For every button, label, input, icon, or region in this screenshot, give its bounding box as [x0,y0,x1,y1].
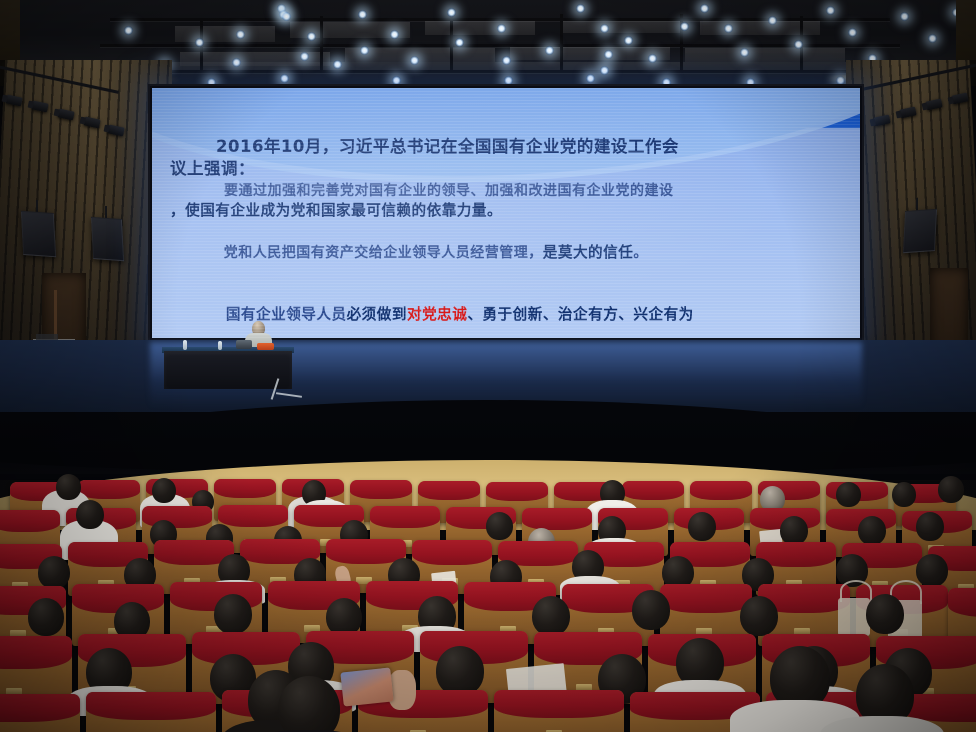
seat[interactable] [0,694,80,732]
presentation-screen[interactable]: 2016年10月，习近平总书记在全国国有企业党的建设工作会 议上强调： 要通过加… [152,88,860,338]
slide-line-5: 党和人民把国有资产交给企业领导人员经营管理，是莫大的信任。 [170,225,842,282]
slide-line-6-c: 、勇于创新、治企有方、兴企有为 [467,306,693,323]
ceiling-spotlight [794,40,803,49]
ceiling-spotlight [447,8,456,17]
wall-speaker [21,211,56,258]
slide-line-6: 国有企业领导人员必须做到对党忠诚、勇于创新、治企有方、兴企有为 [170,286,842,338]
attendee-head [38,556,70,589]
ceiling-spotlight [680,22,689,31]
ceiling-spotlight [236,30,245,39]
attendee-head [858,516,886,545]
ceiling-spotlight [740,48,749,57]
attendee-head [214,594,252,634]
ceiling-spotlight [232,58,241,67]
attendee-head [152,478,176,503]
slide-line-4: ，使国有企业成为党和国家最可信赖的依靠力量。 [170,201,842,221]
attendee-head [632,590,670,630]
ceiling-spotlight [604,50,613,59]
attendee-head [938,476,964,503]
ceiling-spotlight [826,6,835,15]
attendee-head [916,554,948,587]
attendee-head [780,516,808,545]
water-bottle [218,341,222,350]
slide-highlight-1: 对党忠诚 [407,306,467,323]
led-screen-frame: 2016年10月，习近平总书记在全国国有企业党的建设工作会 议上强调： 要通过加… [148,84,864,342]
slide-line-1: 2016年10月，习近平总书记在全国国有企业党的建设工作会 [170,136,842,158]
ceiling-spotlight [455,38,464,47]
ceiling-spotlight [502,56,511,65]
slide-line-5-b: 是莫大的信任 [543,244,634,261]
ceiling-spotlight [360,46,369,55]
auditorium-scene: 2016年10月，习近平总书记在全国国有企业党的建设工作会 议上强调： 要通过加… [0,0,976,732]
laptop [236,340,252,349]
ceiling-spotlight [497,24,506,33]
attendee-head [532,596,570,636]
ceiling-spotlight [576,4,585,13]
ceiling-spotlight [410,56,419,65]
ceiling-spotlight [724,24,733,33]
ceiling-spotlight [390,30,399,39]
attendee-head [436,646,484,696]
ceiling-spotlight [600,66,609,75]
audience-area [0,468,976,732]
attendee-head [486,512,513,540]
attendee-head [688,512,716,541]
slide-line-3: 要通过加强和完善党对国有企业的领导、加强和改进国有企业党的建设 [170,182,842,201]
attendee-head [28,598,64,636]
water-bottle [183,340,187,350]
ceiling-spotlight [545,46,554,55]
slide-line-5-c: 。 [633,245,648,261]
slide-content: 2016年10月，习近平总书记在全国国有企业党的建设工作会 议上强调： 要通过加… [152,132,860,338]
attendee-head [56,474,81,500]
ceiling-spotlight [600,24,609,33]
wall-speaker [91,217,124,261]
attendee-head [76,500,104,529]
ceiling-spotlight [280,74,289,83]
seat[interactable] [494,690,624,732]
slide-line-6-a: 国有企业领导人员 [226,306,347,323]
attendee-head [740,596,778,636]
attendee-head [836,482,861,507]
slide-line-6-b: 必须做到 [347,306,407,323]
slide-line-5-a: 党和人民把国有资产交给企业领导人员经营管理， [224,245,543,261]
smartphone[interactable] [340,667,393,706]
ceiling-spotlight [900,12,909,21]
ceiling-spotlight [648,54,657,63]
ceiling-spotlight [928,34,937,43]
slide-line-2: 议上强调： [170,158,842,180]
wall-speaker [903,209,937,253]
ceiling-spotlight [624,36,633,45]
ceiling-spotlight [124,26,133,35]
ceiling-spotlight [307,32,316,41]
attendee-head [866,594,904,634]
ceiling-spotlight [848,28,857,37]
seat[interactable] [86,692,216,732]
ceiling-spotlight [300,52,309,61]
presenter-table-skirt [164,351,292,389]
ceiling-spotlight [333,60,342,69]
ceiling-spotlight [700,4,709,13]
ceiling-spotlight [282,12,291,21]
ceiling-spotlight [358,10,367,19]
ceiling-spotlight [586,74,595,83]
attendee-head [916,512,944,541]
ceiling-spotlight [195,38,204,47]
attendee-head [892,482,916,507]
ceiling-spotlight [768,16,777,25]
red-folder [257,343,274,350]
